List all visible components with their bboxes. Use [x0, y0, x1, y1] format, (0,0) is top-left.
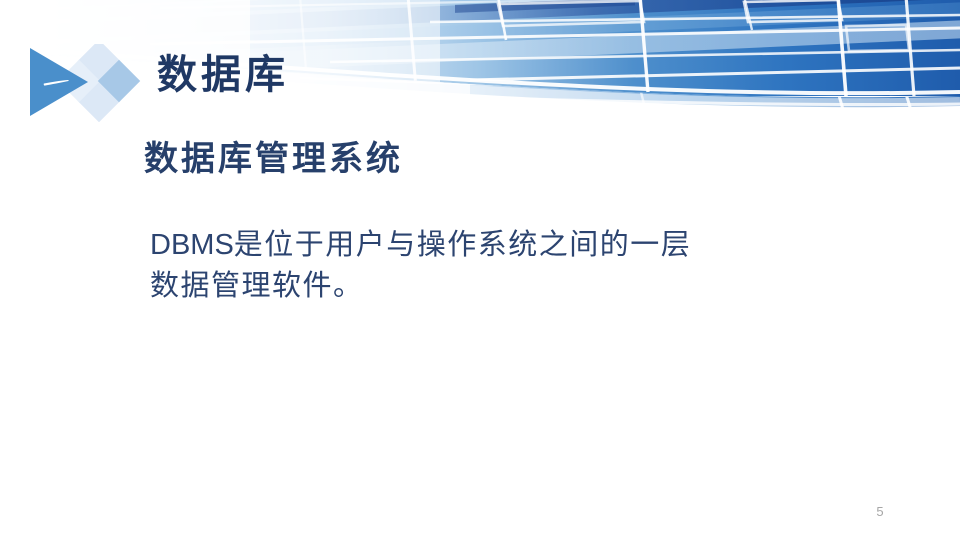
section-number-logo: 一	[22, 44, 162, 122]
body-line-1-acronym: DBMS	[150, 229, 234, 261]
body-line-2: 数据管理软件。	[150, 266, 850, 307]
page-title: 数据库	[157, 52, 289, 98]
body-line-1-text: 是位于用户与操作系统之间的一层	[234, 229, 692, 261]
slide-page-number: 5	[866, 504, 894, 519]
body-line-1: DBMS是位于用户与操作系统之间的一层	[150, 225, 850, 266]
page-subtitle: 数据库管理系统	[144, 140, 403, 181]
slide-canvas: 一 数据库 数据库管理系统 DBMS是位于用户与操作系统之间的一层 数据管理软件…	[0, 0, 960, 540]
body-paragraph: DBMS是位于用户与操作系统之间的一层 数据管理软件。	[150, 225, 850, 307]
